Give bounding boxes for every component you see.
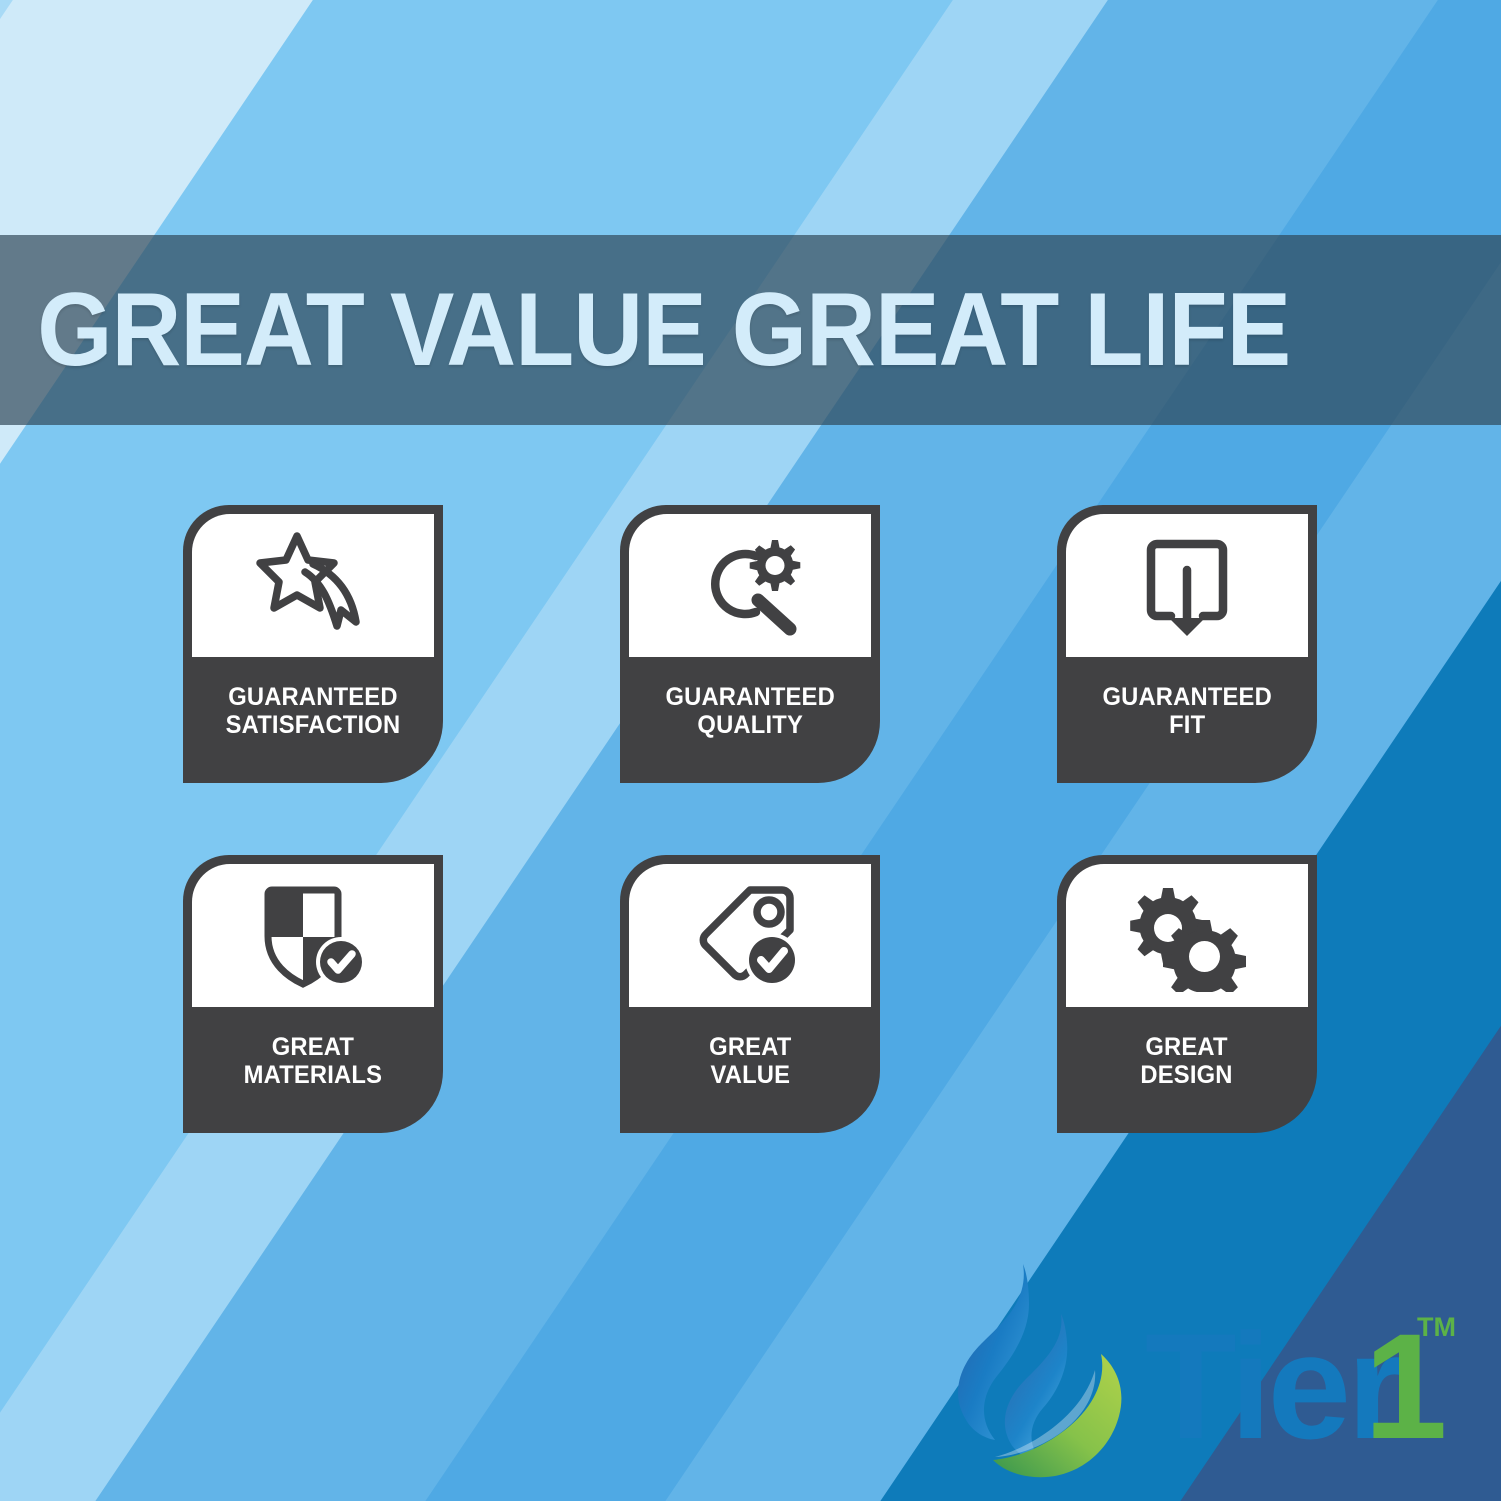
card-icon-area [192,514,434,657]
tier1-logo-svg: Tier 1 TM [955,1258,1455,1488]
page-title: GREAT VALUE GREAT LIFE [0,278,1290,382]
headline-banner: GREAT VALUE GREAT LIFE [0,235,1501,425]
benefit-card-great-materials[interactable]: GREAT MATERIALS [183,855,443,1133]
marketing-graphic: GREAT VALUE GREAT LIFE GUARANTEED SATISF… [0,0,1501,1501]
benefit-card-grid: GUARANTEED SATISFACTION GUARAN [183,505,1323,1133]
card-label: GUARANTEED SATISFACTION [226,683,401,739]
card-label-line1: GUARANTEED [228,683,397,711]
card-icon-area [629,864,871,1007]
card-label-line2: MATERIALS [244,1061,382,1089]
fit-arrow-box-icon [1131,530,1243,642]
card-label-line2: SATISFACTION [226,711,401,739]
shield-check-icon [254,880,372,992]
card-icon-area [1066,864,1308,1007]
card-label-area: GUARANTEED FIT [1057,657,1317,783]
benefit-card-guaranteed-quality[interactable]: GUARANTEED QUALITY [620,505,880,783]
card-label-area: GUARANTEED QUALITY [620,657,880,783]
benefit-card-great-value[interactable]: GREAT VALUE [620,855,880,1133]
card-label-area: GREAT VALUE [620,1007,880,1133]
card-icon-area [1066,514,1308,657]
card-label: GREAT DESIGN [1141,1033,1233,1089]
benefit-card-great-design[interactable]: GREAT DESIGN [1057,855,1317,1133]
price-tag-check-icon [690,880,810,992]
card-icon-area [192,864,434,1007]
two-gears-icon [1127,880,1247,992]
card-label-line2: VALUE [709,1061,791,1089]
card-label-area: GUARANTEED SATISFACTION [183,657,443,783]
card-label: GREAT MATERIALS [244,1033,382,1089]
card-label-line2: DESIGN [1141,1061,1233,1089]
benefit-card-guaranteed-satisfaction[interactable]: GUARANTEED SATISFACTION [183,505,443,783]
card-label: GUARANTEED FIT [1102,683,1271,739]
shooting-star-icon [253,530,373,642]
card-label-line1: GUARANTEED [1102,683,1271,711]
card-label: GREAT VALUE [709,1033,791,1089]
benefit-card-guaranteed-fit[interactable]: GUARANTEED FIT [1057,505,1317,783]
card-label-line1: GREAT [1146,1033,1228,1061]
trademark-symbol: TM [1417,1312,1455,1342]
water-flame-leaf-mark [958,1264,1121,1477]
card-label-area: GREAT DESIGN [1057,1007,1317,1133]
card-icon-area [629,514,871,657]
magnifier-gear-icon [690,530,810,642]
card-label-line1: GUARANTEED [665,683,834,711]
tier1-logo: Tier 1 TM [955,1258,1455,1488]
card-label: GUARANTEED QUALITY [665,683,834,739]
card-label-area: GREAT MATERIALS [183,1007,443,1133]
card-label-line2: FIT [1102,711,1271,739]
card-label-line2: QUALITY [665,711,834,739]
card-label-line1: GREAT [709,1033,791,1061]
card-label-line1: GREAT [272,1033,354,1061]
